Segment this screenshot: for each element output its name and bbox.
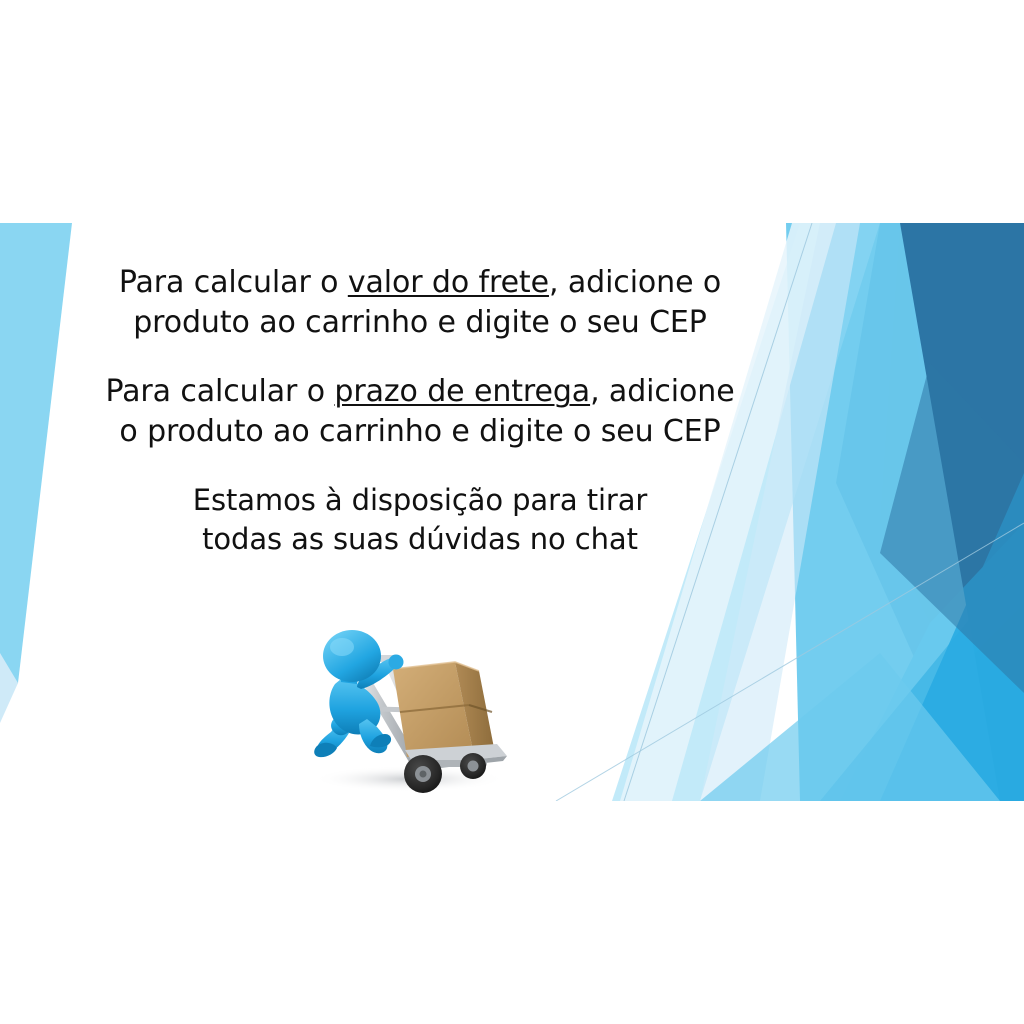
chat-line1: Estamos à disposição para tirar xyxy=(193,483,648,517)
prazo-emphasis: prazo de entrega xyxy=(334,374,590,409)
prazo-line1-before: Para calcular o xyxy=(105,374,334,409)
delivery-illustration-svg xyxy=(297,628,513,798)
paragraph-chat: Estamos à disposição para tirar todas as… xyxy=(60,481,780,558)
paragraph-frete: Para calcular o valor do frete, adicione… xyxy=(60,263,780,342)
cardboard-box xyxy=(393,662,494,757)
frete-line2: produto ao carrinho e digite o seu CEP xyxy=(133,305,707,340)
prazo-line2: o produto ao carrinho e digite o seu CEP xyxy=(119,414,720,449)
slide-content-area: Para calcular o valor do frete, adicione… xyxy=(0,223,1024,801)
prazo-line1-after: , adicione xyxy=(590,374,735,409)
slide-text-block: Para calcular o valor do frete, adicione… xyxy=(60,263,780,558)
frete-line1-before: Para calcular o xyxy=(119,265,348,300)
frete-line1-after: , adicione o xyxy=(549,265,721,300)
wheel-back xyxy=(460,753,486,779)
paragraph-prazo: Para calcular o prazo de entrega, adicio… xyxy=(60,372,780,451)
frete-emphasis: valor do frete xyxy=(348,265,549,300)
chat-line2: todas as suas dúvidas no chat xyxy=(202,522,638,556)
delivery-handtruck-figure-icon xyxy=(297,628,513,798)
blue-figure xyxy=(314,630,403,757)
wheel-front xyxy=(404,755,442,793)
slide-canvas: Para calcular o valor do frete, adicione… xyxy=(0,0,1024,1024)
